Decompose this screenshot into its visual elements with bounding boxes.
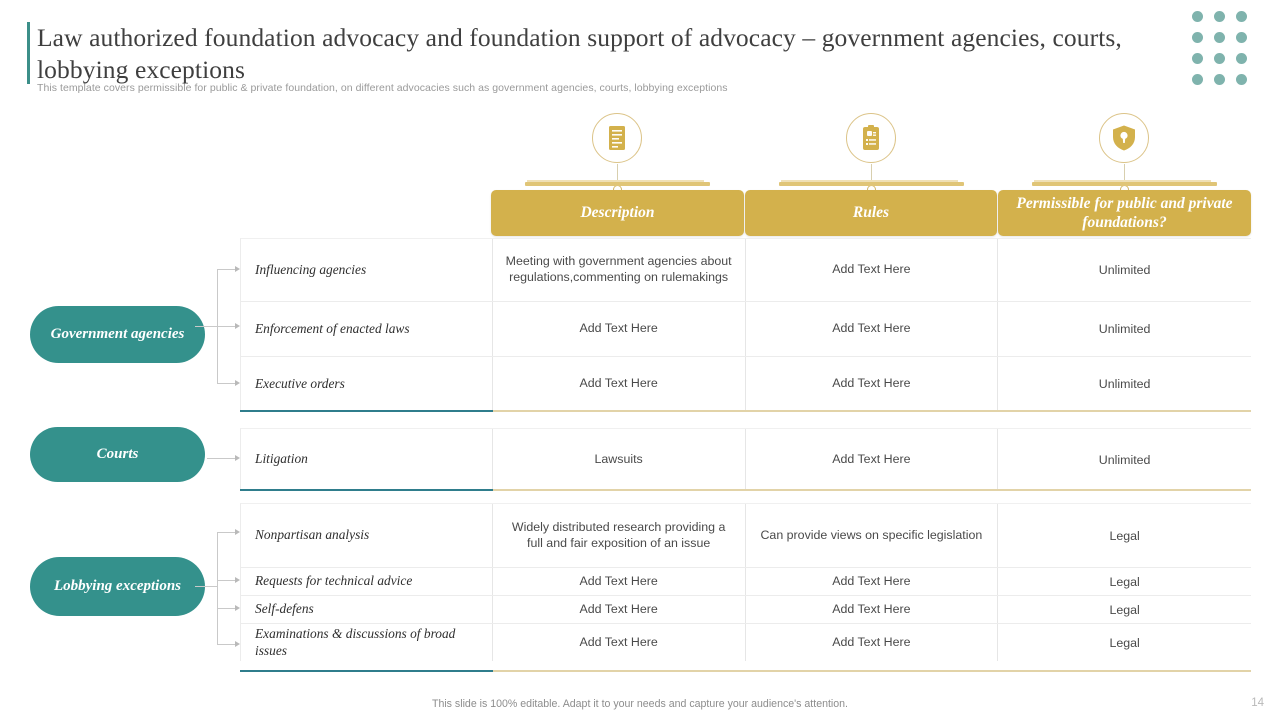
category-pill-government-agencies[interactable]: Government agencies (30, 306, 205, 363)
table-cell-topic: Examinations & discussions of broad issu… (241, 624, 493, 661)
table-row[interactable]: Executive ordersAdd Text HereAdd Text He… (241, 356, 1251, 411)
table-row[interactable]: Enforcement of enacted lawsAdd Text Here… (241, 301, 1251, 356)
group-underline (240, 489, 1251, 491)
category-pill-label: Lobbying exceptions (54, 577, 181, 597)
group-underline (240, 410, 1251, 412)
table-rows: Influencing agenciesMeeting with governm… (240, 238, 1251, 411)
category-pill-label: Government agencies (51, 325, 185, 345)
table-cell-description: Lawsuits (493, 429, 746, 490)
table-cell-rules: Add Text Here (746, 239, 999, 301)
table-cell-permissible: Legal (998, 624, 1251, 661)
column-icon-row (0, 0, 1280, 200)
table-row[interactable]: Examinations & discussions of broad issu… (241, 623, 1251, 661)
table-group-lobbying-exceptions: Nonpartisan analysisWidely distributed r… (240, 503, 1251, 661)
table-cell-topic: Enforcement of enacted laws (241, 302, 493, 356)
table-row[interactable]: Nonpartisan analysisWidely distributed r… (241, 504, 1251, 567)
table-cell-description: Add Text Here (493, 596, 746, 623)
category-pill-lobbying-exceptions[interactable]: Lobbying exceptions (30, 557, 205, 616)
column-header-label: Permissible for public and private found… (1006, 194, 1243, 232)
table-cell-topic: Requests for technical advice (241, 568, 493, 595)
column-header-rules[interactable]: Rules (745, 190, 997, 236)
table-row[interactable]: Influencing agenciesMeeting with governm… (241, 239, 1251, 301)
table-cell-rules: Add Text Here (746, 357, 999, 411)
footer-note: This slide is 100% editable. Adapt it to… (0, 698, 1280, 710)
column-header-label: Description (580, 203, 654, 222)
table-cell-description: Add Text Here (493, 568, 746, 595)
header-shelf-description (525, 182, 710, 186)
table-row[interactable]: Requests for technical adviceAdd Text He… (241, 567, 1251, 595)
table-cell-rules: Add Text Here (746, 596, 999, 623)
page-number: 14 (1251, 697, 1264, 709)
header-shelf-rules (779, 182, 964, 186)
table-cell-rules: Add Text Here (746, 302, 999, 356)
table-cell-topic: Self-defens (241, 596, 493, 623)
table-cell-permissible: Unlimited (998, 239, 1251, 301)
table-cell-rules: Add Text Here (746, 429, 999, 490)
table-cell-rules: Can provide views on specific legislatio… (746, 504, 999, 567)
table-cell-permissible: Legal (998, 504, 1251, 567)
slide-canvas: Law authorized foundation advocacy and f… (0, 0, 1280, 720)
table-cell-permissible: Legal (998, 596, 1251, 623)
table-cell-rules: Add Text Here (746, 624, 999, 661)
table-group-courts: LitigationLawsuitsAdd Text HereUnlimited (240, 428, 1251, 490)
table-cell-permissible: Legal (998, 568, 1251, 595)
table-cell-permissible: Unlimited (998, 302, 1251, 356)
column-header-description[interactable]: Description (491, 190, 744, 236)
table-cell-topic: Nonpartisan analysis (241, 504, 493, 567)
table-rows: Nonpartisan analysisWidely distributed r… (240, 503, 1251, 661)
clipboard-checklist-icon (846, 113, 896, 163)
table-cell-description: Add Text Here (493, 624, 746, 661)
table-row[interactable]: Self-defensAdd Text HereAdd Text HereLeg… (241, 595, 1251, 623)
table-cell-description: Add Text Here (493, 302, 746, 356)
table-cell-permissible: Unlimited (998, 429, 1251, 490)
shield-keyhole-icon (1099, 113, 1149, 163)
connector-courts (207, 453, 243, 463)
table-cell-topic: Executive orders (241, 357, 493, 411)
column-header-label: Rules (853, 203, 889, 222)
table-rows: LitigationLawsuitsAdd Text HereUnlimited (240, 428, 1251, 490)
column-header-permissible[interactable]: Permissible for public and private found… (998, 190, 1251, 236)
category-pill-courts[interactable]: Courts (30, 427, 205, 482)
table-row[interactable]: LitigationLawsuitsAdd Text HereUnlimited (241, 429, 1251, 490)
table-cell-topic: Influencing agencies (241, 239, 493, 301)
table-cell-description: Meeting with government agencies about r… (493, 239, 746, 301)
table-group-government-agencies: Influencing agenciesMeeting with governm… (240, 238, 1251, 411)
table-cell-rules: Add Text Here (746, 568, 999, 595)
header-shelf-permissible (1032, 182, 1217, 186)
group-underline (240, 670, 1251, 672)
table-cell-description: Add Text Here (493, 357, 746, 411)
table-cell-topic: Litigation (241, 429, 493, 490)
table-cell-permissible: Unlimited (998, 357, 1251, 411)
category-pill-label: Courts (97, 445, 139, 465)
table-cell-description: Widely distributed research providing a … (493, 504, 746, 567)
document-lines-icon (592, 113, 642, 163)
